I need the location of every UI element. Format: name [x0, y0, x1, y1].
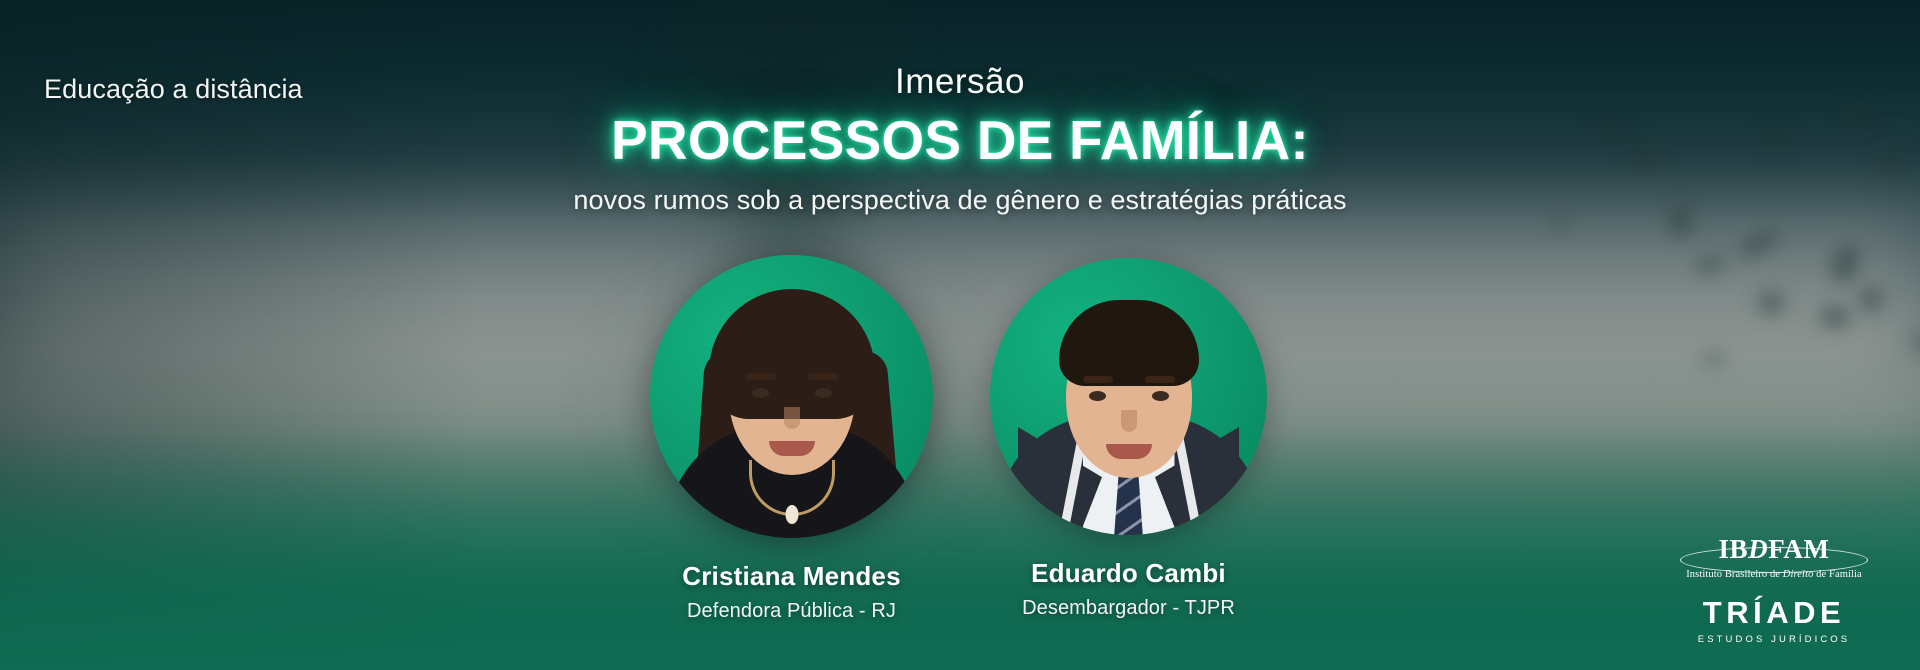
portrait-illustration [650, 255, 933, 538]
avatar [990, 258, 1267, 535]
subtitle-text: novos rumos sob a perspectiva de gênero … [0, 184, 1920, 216]
promo-banner: Educação a distância Imersão PROCESSOS D… [0, 0, 1920, 670]
speakers-list: Cristiana Mendes Defendora Pública - RJ [0, 255, 1920, 623]
speaker-name: Cristiana Mendes [644, 562, 939, 592]
speaker-card: Eduardo Cambi Desembargador - TJPR [981, 255, 1276, 620]
ibdfam-mark-part3: FAM [1768, 534, 1829, 564]
ibdfam-mark-part1: IB [1718, 534, 1748, 564]
speaker-role: Defendora Pública - RJ [644, 599, 939, 623]
portrait-illustration [990, 258, 1267, 535]
page-title: PROCESSOS DE FAMÍLIA: [0, 112, 1920, 169]
headline-block: Imersão PROCESSOS DE FAMÍLIA: novos rumo… [0, 64, 1920, 217]
logo-group: IBDFAM Instituto Brasileiro de Direito d… [1676, 536, 1872, 644]
ibdfam-wordmark: IBDFAM [1676, 536, 1872, 563]
avatar [650, 255, 933, 538]
triade-tagline: ESTUDOS JURÍDICOS [1676, 635, 1872, 645]
triade-wordmark: TRÍADE [1703, 597, 1845, 628]
speaker-name: Eduardo Cambi [981, 559, 1276, 589]
ibdfam-mark-part2: D [1748, 534, 1768, 564]
ibdfam-logo: IBDFAM Instituto Brasileiro de Direito d… [1676, 536, 1872, 581]
speaker-role: Desembargador - TJPR [981, 596, 1276, 620]
speaker-card: Cristiana Mendes Defendora Pública - RJ [644, 255, 939, 623]
triade-logo: TRÍADE ESTUDOS JURÍDICOS [1676, 597, 1872, 645]
eyebrow-text: Imersão [0, 64, 1920, 99]
